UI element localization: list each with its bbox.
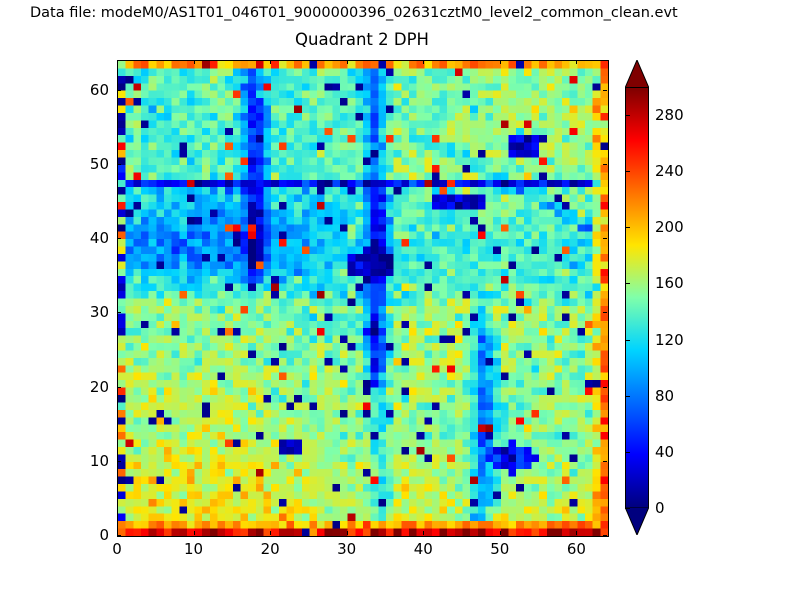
plot-title: Quadrant 2 DPH [117, 30, 607, 49]
y-tick [603, 90, 607, 91]
colorbar-tick [625, 283, 630, 284]
colorbar-tick [625, 508, 630, 509]
y-tick-label: 0 [65, 526, 109, 544]
figure-canvas: Data file: modeM0/AS1T01_046T01_90000003… [0, 0, 800, 600]
y-tick-label: 40 [65, 229, 109, 247]
x-tick [423, 531, 424, 535]
x-tick-label: 60 [567, 540, 586, 558]
x-tick-label: 0 [112, 540, 122, 558]
x-tick [347, 60, 348, 64]
colorbar-tick [625, 452, 630, 453]
x-tick [576, 531, 577, 535]
data-file-label: Data file: modeM0/AS1T01_046T01_90000003… [30, 5, 790, 21]
colorbar-tick-label: 200 [655, 218, 684, 236]
colorbar: 04080120160200240280 [625, 60, 649, 535]
y-tick-label: 60 [65, 81, 109, 99]
colorbar-tick-label: 80 [655, 387, 674, 405]
colorbar-tick-label: 240 [655, 162, 684, 180]
y-tick [603, 535, 607, 536]
y-tick [117, 164, 121, 165]
x-tick [500, 531, 501, 535]
x-tick-label: 50 [490, 540, 509, 558]
y-tick-label: 20 [65, 378, 109, 396]
colorbar-tick-label: 0 [655, 499, 665, 517]
colorbar-tick [625, 227, 630, 228]
x-tick [270, 60, 271, 64]
colorbar-tick-label: 280 [655, 106, 684, 124]
x-tick-label: 30 [337, 540, 356, 558]
heatmap-axes [117, 60, 609, 537]
colorbar-tick [625, 396, 630, 397]
x-tick-label: 40 [414, 540, 433, 558]
y-tick [117, 461, 121, 462]
y-tick [117, 387, 121, 388]
y-tick [603, 387, 607, 388]
y-tick [117, 312, 121, 313]
y-tick-label: 10 [65, 452, 109, 470]
colorbar-tick [625, 340, 630, 341]
x-tick-label: 10 [184, 540, 203, 558]
y-tick-label: 50 [65, 155, 109, 173]
y-tick [603, 164, 607, 165]
y-tick [117, 535, 121, 536]
y-tick [603, 312, 607, 313]
x-tick [194, 60, 195, 64]
x-tick [347, 531, 348, 535]
x-tick [117, 60, 118, 64]
y-tick [117, 238, 121, 239]
y-tick [117, 90, 121, 91]
colorbar-tick [625, 171, 630, 172]
colorbar-tick-label: 40 [655, 443, 674, 461]
x-tick [576, 60, 577, 64]
y-tick-label: 30 [65, 303, 109, 321]
x-tick-label: 20 [261, 540, 280, 558]
x-tick [194, 531, 195, 535]
colorbar-tick-label: 120 [655, 331, 684, 349]
x-tick [500, 60, 501, 64]
y-tick [603, 461, 607, 462]
colorbar-tick [625, 115, 630, 116]
colorbar-extend-min-arrow-icon [625, 507, 649, 535]
colorbar-extend-max-arrow-icon [625, 60, 649, 88]
colorbar-gradient [625, 87, 649, 508]
x-tick [270, 531, 271, 535]
colorbar-tick-label: 160 [655, 274, 684, 292]
heatmap-image [118, 61, 608, 536]
x-tick [423, 60, 424, 64]
y-tick [603, 238, 607, 239]
